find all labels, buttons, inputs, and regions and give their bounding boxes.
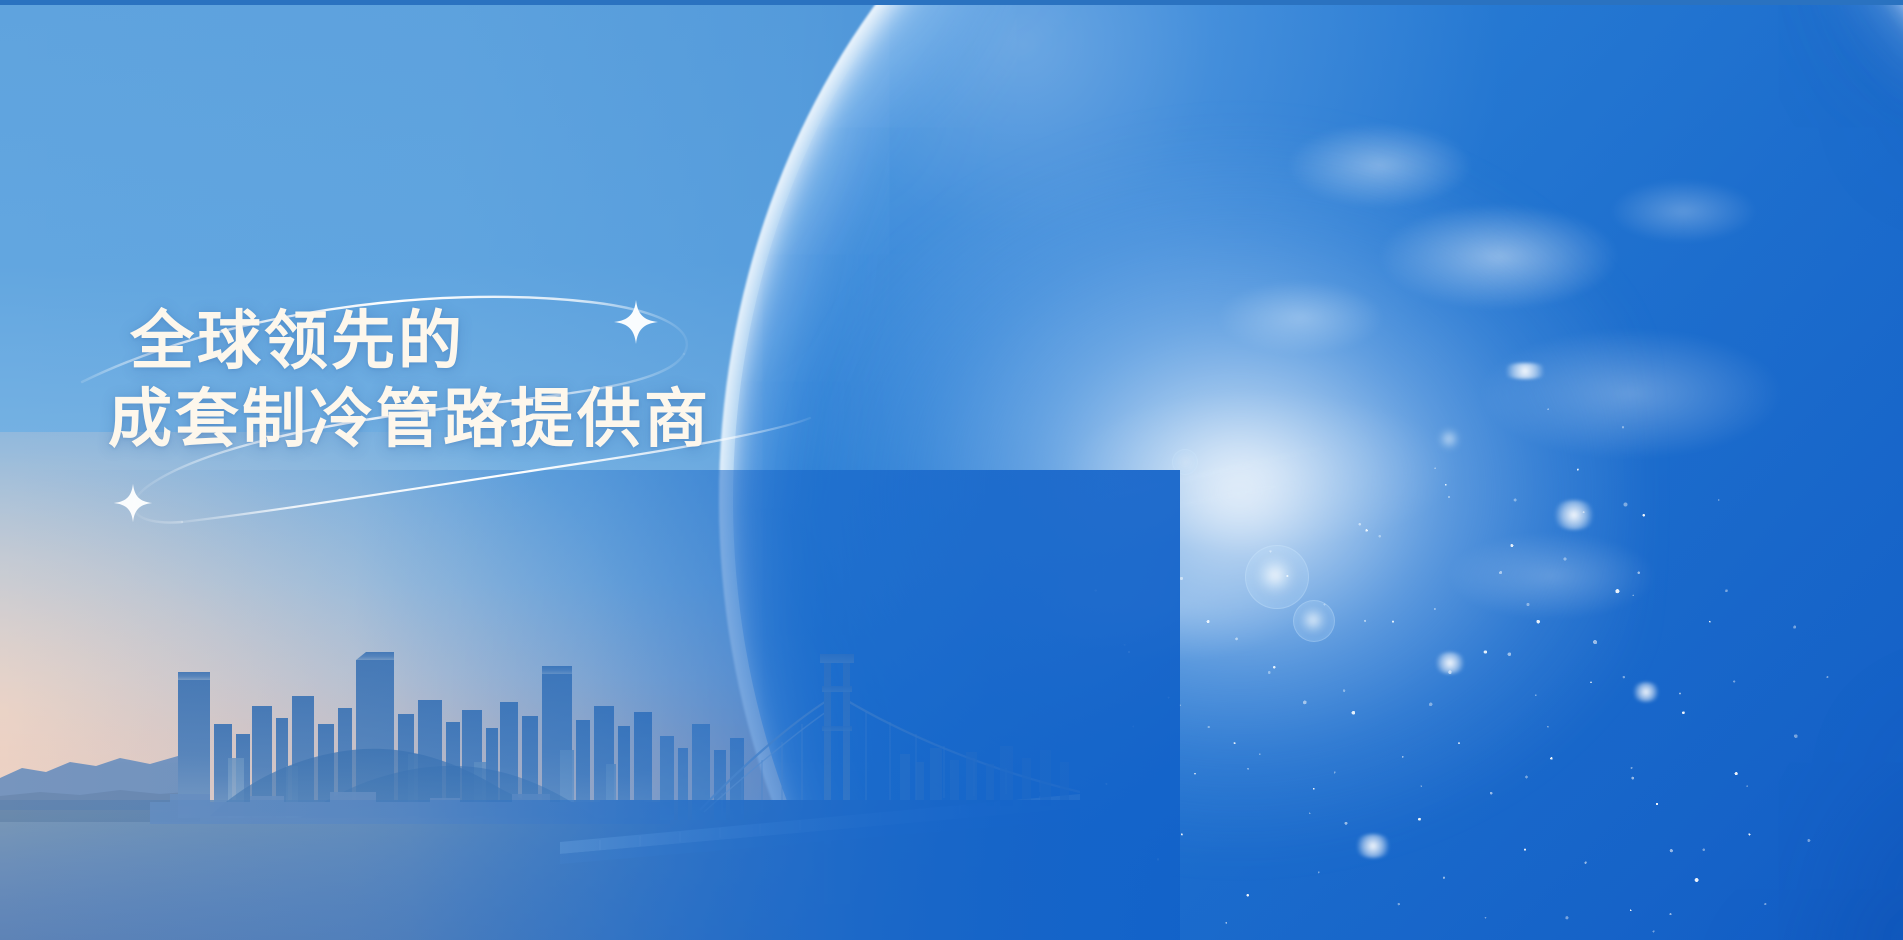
lens-flare-core-tiny: [1440, 430, 1458, 448]
headline-block: 全球领先的 成套制冷管路提供商: [108, 302, 711, 458]
globe-metro-light-5: [1499, 363, 1551, 379]
headline-line-1: 全球领先的: [130, 302, 711, 380]
hero-banner: 全球领先的 成套制冷管路提供商: [0, 0, 1903, 940]
headline-line-2: 成套制冷管路提供商: [108, 380, 711, 458]
top-accent-strip: [0, 0, 1903, 5]
lens-flare-core-large: [1258, 558, 1292, 592]
skyline-right: [900, 746, 1069, 806]
lens-flare-core-small: [1302, 609, 1324, 631]
water-blue-overlay: [0, 800, 1080, 940]
globe-metro-light-4: [1631, 682, 1661, 702]
lens-flare-bokeh-tiny: [1172, 449, 1198, 475]
globe-metro-light-2: [1433, 652, 1467, 674]
